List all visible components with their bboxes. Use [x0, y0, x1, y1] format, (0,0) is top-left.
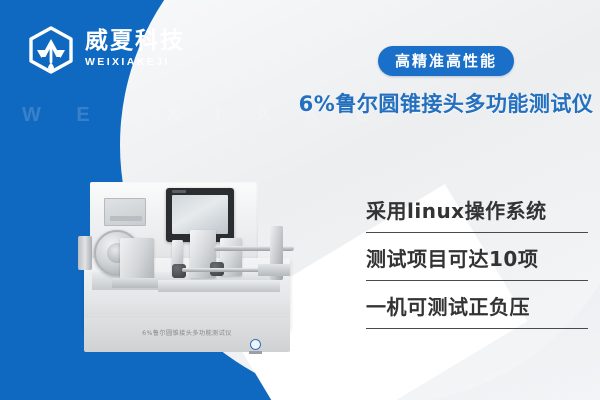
page-title: 6%鲁尔圆锥接头多功能测试仪	[296, 88, 596, 118]
brand-logo: 威夏科技 WEIXIAKEJI	[28, 26, 185, 74]
brand-name-en: WEIXIAKEJI	[85, 55, 185, 71]
feature-label: 采用linux操作系统	[366, 199, 588, 224]
hmi-brand-mark	[172, 190, 186, 193]
brand-logo-text: 威夏科技 WEIXIAKEJI	[85, 29, 185, 71]
feature-list: 采用linux操作系统 测试项目可达10项 一机可测试正负压	[366, 196, 588, 329]
list-item: 测试项目可达10项	[366, 244, 588, 281]
seal-plate	[249, 351, 262, 354]
feature-label: 一机可测试正负压	[366, 295, 588, 320]
list-item: 一机可测试正负压	[366, 292, 588, 329]
company-seal-icon	[248, 339, 263, 356]
product-photo: 6%鲁尔圆锥接头多功能测试仪	[62, 176, 312, 364]
machine-bracket-foot	[112, 278, 164, 288]
promo-banner: W E I X I A K E 威夏科技 WEIXIAKEJI 高精准高性能 6…	[0, 0, 600, 400]
feature-label: 测试项目可达10项	[366, 247, 588, 272]
brand-name-cn: 威夏科技	[85, 29, 185, 54]
machine-wheel-arm	[78, 236, 92, 270]
seal-ring	[250, 339, 261, 350]
hmi-screen-surface	[172, 195, 228, 234]
machine-caption: 6%鲁尔圆锥接头多功能测试仪	[84, 328, 290, 337]
headline-badge: 高精准高性能	[378, 46, 514, 76]
machine-side-plate	[104, 198, 146, 226]
machine-end-post-foot	[258, 264, 290, 276]
hexagon-shield-icon	[28, 26, 74, 74]
headline-block: 高精准高性能 6%鲁尔圆锥接头多功能测试仪	[296, 46, 596, 118]
machine-bracket-block	[120, 238, 154, 282]
machine-slide-tray	[158, 280, 280, 292]
list-item: 采用linux操作系统	[366, 196, 588, 233]
